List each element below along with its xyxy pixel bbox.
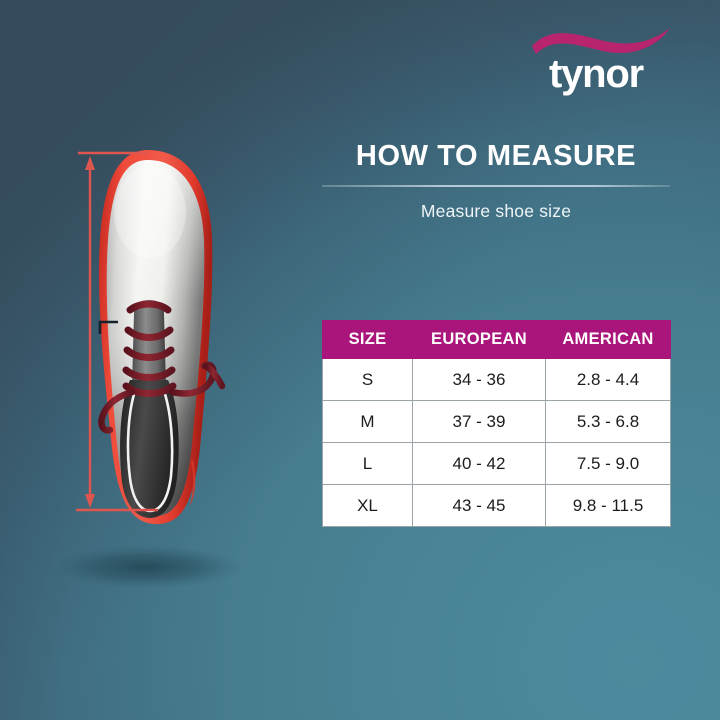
cell-size: S (323, 359, 413, 401)
column-header-american: AMERICAN (546, 321, 671, 359)
page-title: HOW TO MEASURE (322, 140, 670, 173)
cell-european: 34 - 36 (413, 359, 546, 401)
brand-logo: tynor (516, 24, 676, 104)
cell-size: M (323, 401, 413, 443)
cell-size: L (323, 443, 413, 485)
cell-american: 5.3 - 6.8 (546, 401, 671, 443)
table-row: S 34 - 36 2.8 - 4.4 (323, 359, 671, 401)
size-chart-canvas: tynor HOW TO MEASURE Measure shoe size (0, 0, 720, 720)
brand-wordmark: tynor (516, 54, 676, 94)
table-row: XL 43 - 45 9.8 - 11.5 (323, 485, 671, 527)
cell-size: XL (323, 485, 413, 527)
size-chart-table: SIZE EUROPEAN AMERICAN S 34 - 36 2.8 - 4… (322, 320, 671, 527)
column-header-european: EUROPEAN (413, 321, 546, 359)
cell-american: 9.8 - 11.5 (546, 485, 671, 527)
table-header-row: SIZE EUROPEAN AMERICAN (323, 321, 671, 359)
cell-european: 37 - 39 (413, 401, 546, 443)
shoe-shadow (60, 545, 244, 589)
width-corner-bracket-icon (98, 318, 124, 344)
title-divider (322, 185, 670, 187)
page-subtitle: Measure shoe size (322, 201, 670, 222)
cell-european: 43 - 45 (413, 485, 546, 527)
column-header-size: SIZE (323, 321, 413, 359)
arrow-head-up (85, 156, 95, 170)
title-block: HOW TO MEASURE Measure shoe size (322, 140, 670, 222)
arrow-head-down (85, 494, 95, 508)
table-row: L 40 - 42 7.5 - 9.0 (323, 443, 671, 485)
cell-american: 7.5 - 9.0 (546, 443, 671, 485)
cell-american: 2.8 - 4.4 (546, 359, 671, 401)
cell-european: 40 - 42 (413, 443, 546, 485)
table-row: M 37 - 39 5.3 - 6.8 (323, 401, 671, 443)
